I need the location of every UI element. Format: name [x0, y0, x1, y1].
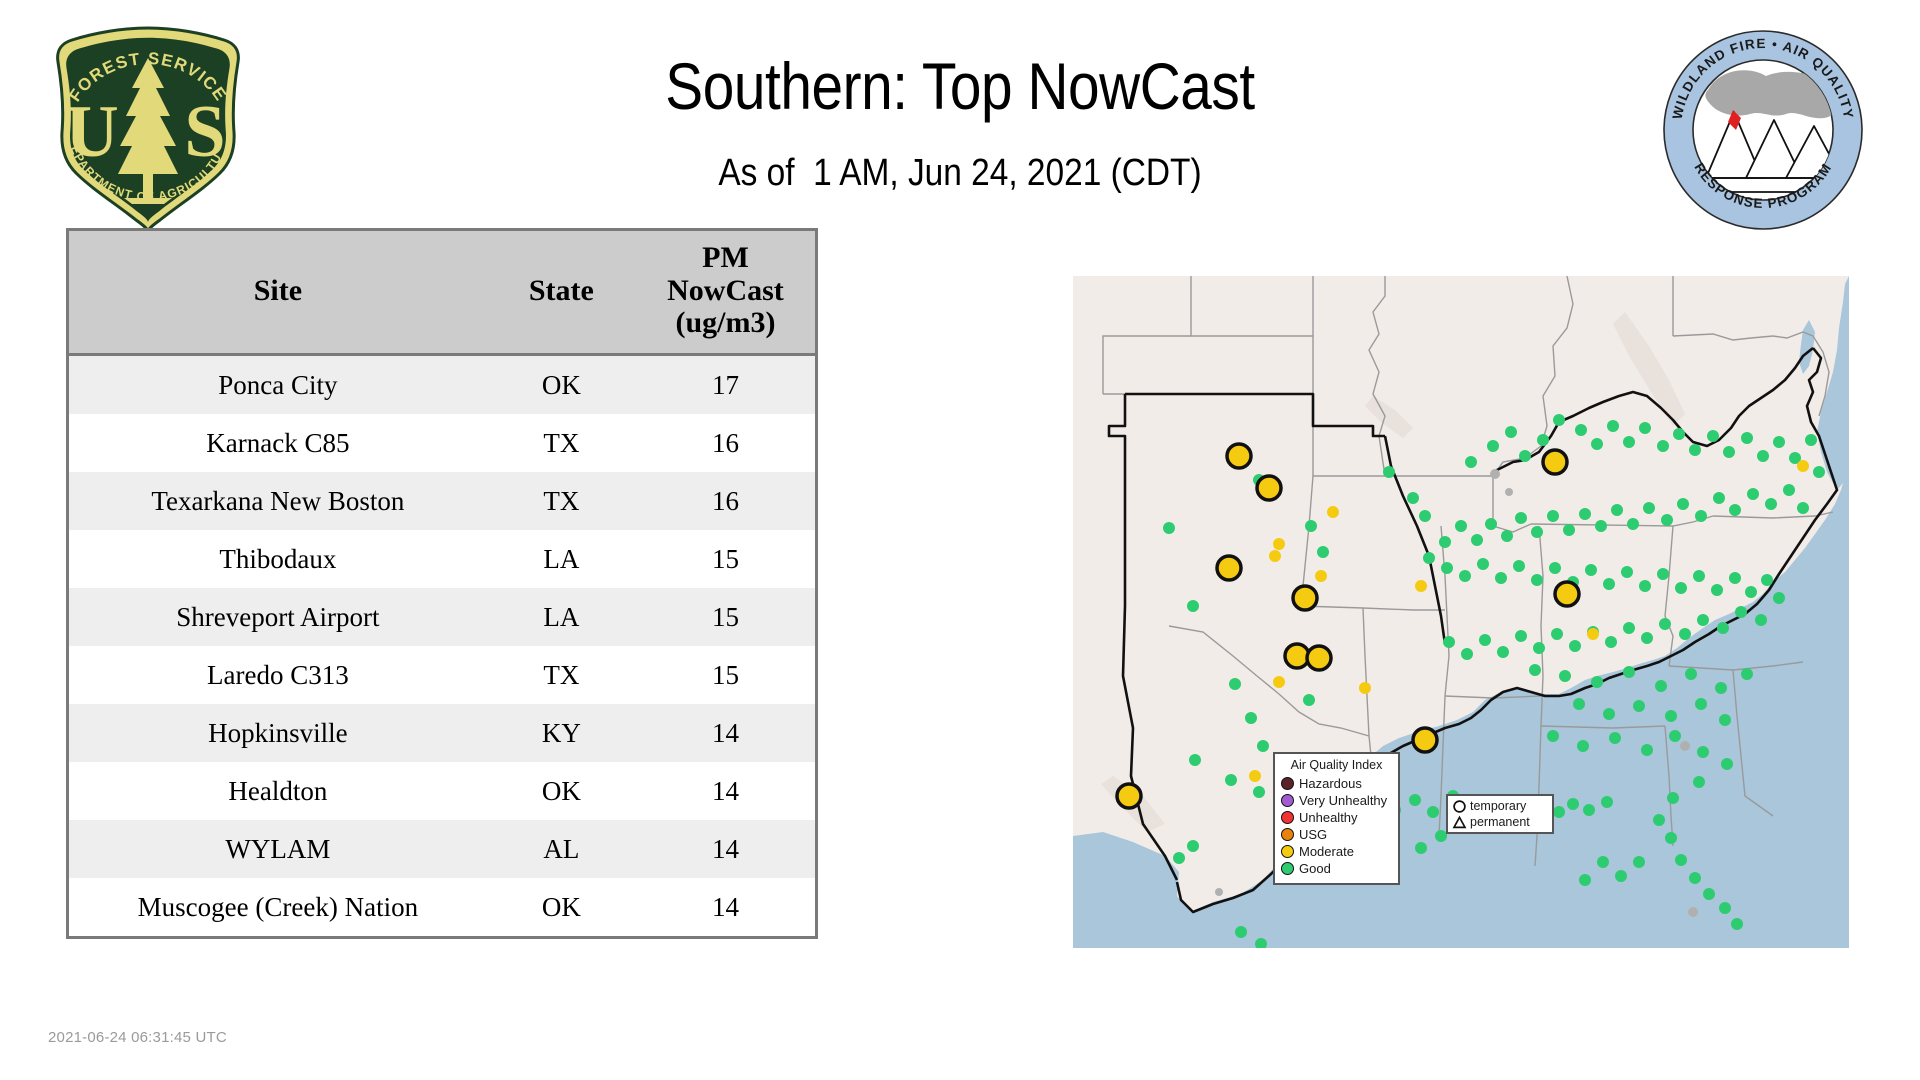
map-site-laredo-c313 — [1117, 784, 1141, 808]
aqi-legend-row: Moderate — [1281, 843, 1392, 860]
table-cell-state: OK — [487, 878, 636, 936]
table-cell-site: Hopkinsville — [69, 704, 487, 762]
aqi-legend-label: USG — [1299, 826, 1327, 843]
aqi-legend-title: Air Quality Index — [1281, 758, 1392, 772]
table-row: Ponca CityOK17 — [69, 355, 815, 415]
aqi-legend-row: Unhealthy — [1281, 809, 1392, 826]
table-cell-value: 14 — [636, 820, 815, 878]
permanent-triangle-icon — [1452, 815, 1467, 830]
table-cell-state: TX — [487, 414, 636, 472]
column-header-pm-nowcast: PM NowCast (ug/m3) — [636, 231, 815, 355]
table-row: ThibodauxLA15 — [69, 530, 815, 588]
aqi-legend-label: Very Unhealthy — [1299, 792, 1387, 809]
aqi-legend-row: USG — [1281, 826, 1392, 843]
aqi-swatch-icon — [1281, 777, 1294, 790]
map-site-healdton — [1217, 556, 1241, 580]
map-site-karnack-c85 — [1307, 646, 1331, 670]
table-cell-site: Texarkana New Boston — [69, 472, 487, 530]
map-site-wylam — [1555, 582, 1579, 606]
site-type-permanent: permanent — [1452, 814, 1530, 830]
table-row: HopkinsvilleKY14 — [69, 704, 815, 762]
top-nowcast-table: Site State PM NowCast (ug/m3) Ponca City… — [66, 228, 818, 939]
table-cell-site: Shreveport Airport — [69, 588, 487, 646]
aqi-legend-label: Hazardous — [1299, 775, 1362, 792]
table-cell-value: 15 — [636, 588, 815, 646]
table-cell-state: KY — [487, 704, 636, 762]
table-cell-site: Healdton — [69, 762, 487, 820]
table-cell-value: 14 — [636, 704, 815, 762]
table-cell-value: 16 — [636, 472, 815, 530]
aqi-legend-row: Very Unhealthy — [1281, 792, 1392, 809]
air-quality-map[interactable]: Air Quality Index HazardousVery Unhealth… — [1073, 276, 1849, 948]
table-row: Laredo C313TX15 — [69, 646, 815, 704]
table-cell-site: Karnack C85 — [69, 414, 487, 472]
usfs-logo: U S FOREST SERVICE DEPARTMENT OF AGRICUL… — [48, 24, 248, 236]
table-cell-site: Muscogee (Creek) Nation — [69, 878, 487, 936]
table-cell-site: WYLAM — [69, 820, 487, 878]
aqi-swatch-icon — [1281, 845, 1294, 858]
table-cell-value: 14 — [636, 762, 815, 820]
map-site-texarkana-new-boston — [1293, 586, 1317, 610]
aqi-legend-row: Good — [1281, 860, 1392, 877]
table-cell-state: LA — [487, 530, 636, 588]
aqi-swatch-icon — [1281, 811, 1294, 824]
table-cell-value: 17 — [636, 355, 815, 415]
map-canvas — [1073, 276, 1849, 948]
table-cell-value: 15 — [636, 646, 815, 704]
map-site-hopkinsville — [1543, 450, 1567, 474]
map-site-muscogee-creek-nation — [1257, 476, 1281, 500]
column-header-line-2: NowCast — [667, 274, 784, 307]
map-site-thibodaux — [1413, 728, 1437, 752]
aqi-legend-label: Unhealthy — [1299, 809, 1358, 826]
table-cell-site: Thibodaux — [69, 530, 487, 588]
table-cell-state: OK — [487, 355, 636, 415]
site-type-legend: temporary permanent — [1446, 794, 1554, 834]
table-row: Karnack C85TX16 — [69, 414, 815, 472]
table-row: WYLAMAL14 — [69, 820, 815, 878]
table-row: Muscogee (Creek) NationOK14 — [69, 878, 815, 936]
column-header-state: State — [487, 231, 636, 355]
aqi-legend: Air Quality Index HazardousVery Unhealth… — [1273, 752, 1400, 885]
site-type-temporary: temporary — [1452, 798, 1530, 814]
table-row: Texarkana New BostonTX16 — [69, 472, 815, 530]
table-row: Shreveport AirportLA15 — [69, 588, 815, 646]
wfaqrp-logo: WILDLAND FIRE • AIR QUALITY RESPONSE PRO… — [1658, 28, 1868, 233]
page-title: Southern: Top NowCast — [375, 48, 1545, 124]
page-subtitle: As of 1 AM, Jun 24, 2021 (CDT) — [362, 152, 1559, 195]
table-cell-state: AL — [487, 820, 636, 878]
table-cell-value: 16 — [636, 414, 815, 472]
aqi-swatch-icon — [1281, 862, 1294, 875]
column-header-site: Site — [69, 231, 487, 355]
aqi-swatch-icon — [1281, 794, 1294, 807]
table-row: HealdtonOK14 — [69, 762, 815, 820]
footer-timestamp: 2021-06-24 06:31:45 UTC — [48, 1029, 227, 1046]
column-header-line-1: PM — [702, 241, 749, 274]
table-cell-state: OK — [487, 762, 636, 820]
site-type-temporary-label: temporary — [1470, 798, 1526, 814]
table-cell-state: LA — [487, 588, 636, 646]
table-cell-site: Ponca City — [69, 355, 487, 415]
table-cell-state: TX — [487, 646, 636, 704]
aqi-swatch-icon — [1281, 828, 1294, 841]
table-cell-value: 15 — [636, 530, 815, 588]
map-site-ponca-city — [1227, 444, 1251, 468]
column-header-line-3: (ug/m3) — [675, 306, 775, 339]
table-header-row: Site State PM NowCast (ug/m3) — [69, 231, 815, 355]
aqi-legend-label: Good — [1299, 860, 1331, 877]
aqi-legend-row: Hazardous — [1281, 775, 1392, 792]
site-type-permanent-label: permanent — [1470, 814, 1530, 830]
temporary-circle-icon — [1452, 799, 1467, 814]
table-cell-site: Laredo C313 — [69, 646, 487, 704]
aqi-legend-label: Moderate — [1299, 843, 1354, 860]
table-cell-value: 14 — [636, 878, 815, 936]
table-cell-state: TX — [487, 472, 636, 530]
